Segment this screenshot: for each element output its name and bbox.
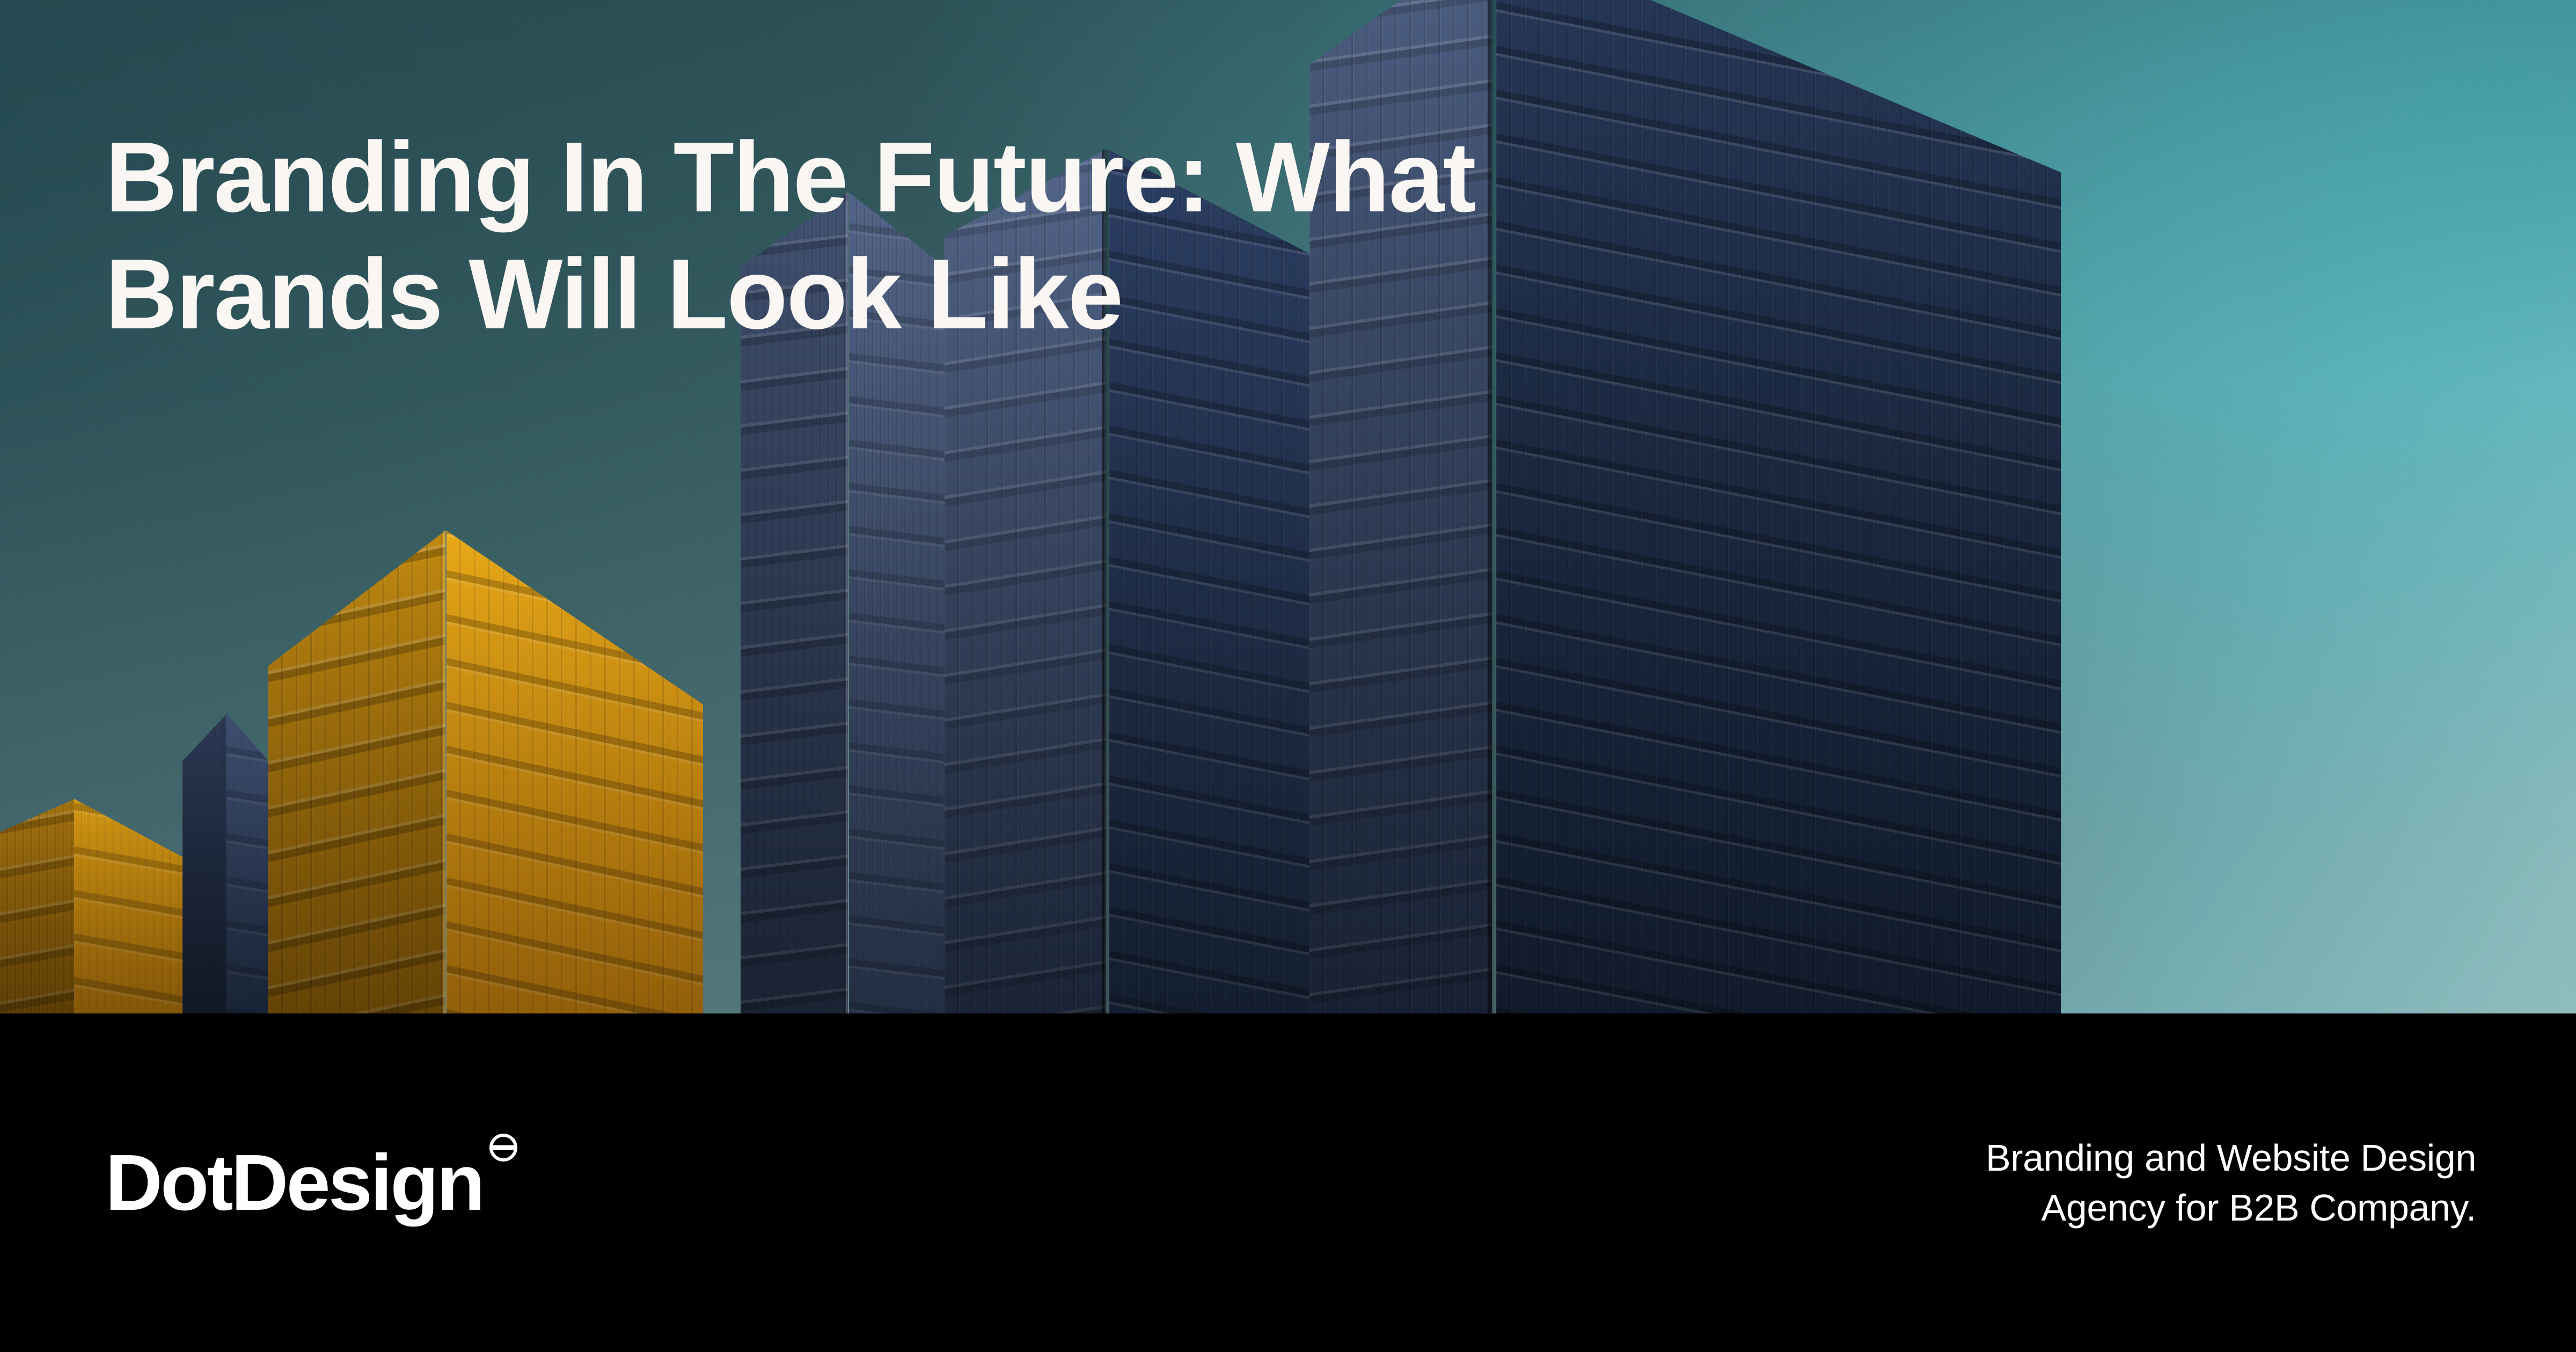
poster-canvas: Branding In The Future: What Brands Will… bbox=[0, 0, 2576, 1352]
building-face-left bbox=[0, 799, 75, 1013]
building-face-left bbox=[182, 713, 228, 1013]
brand-logo[interactable]: DotDesign bbox=[105, 1143, 517, 1223]
building-face-right bbox=[74, 799, 194, 1013]
theta-circle-icon bbox=[489, 1134, 517, 1162]
footer-tagline: Branding and Website Design Agency for B… bbox=[1986, 1133, 2476, 1232]
hero-image: Branding In The Future: What Brands Will… bbox=[0, 0, 2576, 1013]
building-yellow-main bbox=[268, 531, 703, 1013]
page-title: Branding In The Future: What Brands Will… bbox=[105, 119, 2402, 352]
building-yellow-far-left bbox=[0, 799, 193, 1013]
building-face-left bbox=[268, 531, 445, 1013]
brand-logo-wordmark: DotDesign bbox=[105, 1143, 483, 1223]
building-face-right bbox=[447, 531, 703, 1013]
footer-content: DotDesign Branding and Website Design Ag… bbox=[0, 1013, 2576, 1352]
footer-bar: DotDesign Branding and Website Design Ag… bbox=[0, 1013, 2576, 1352]
